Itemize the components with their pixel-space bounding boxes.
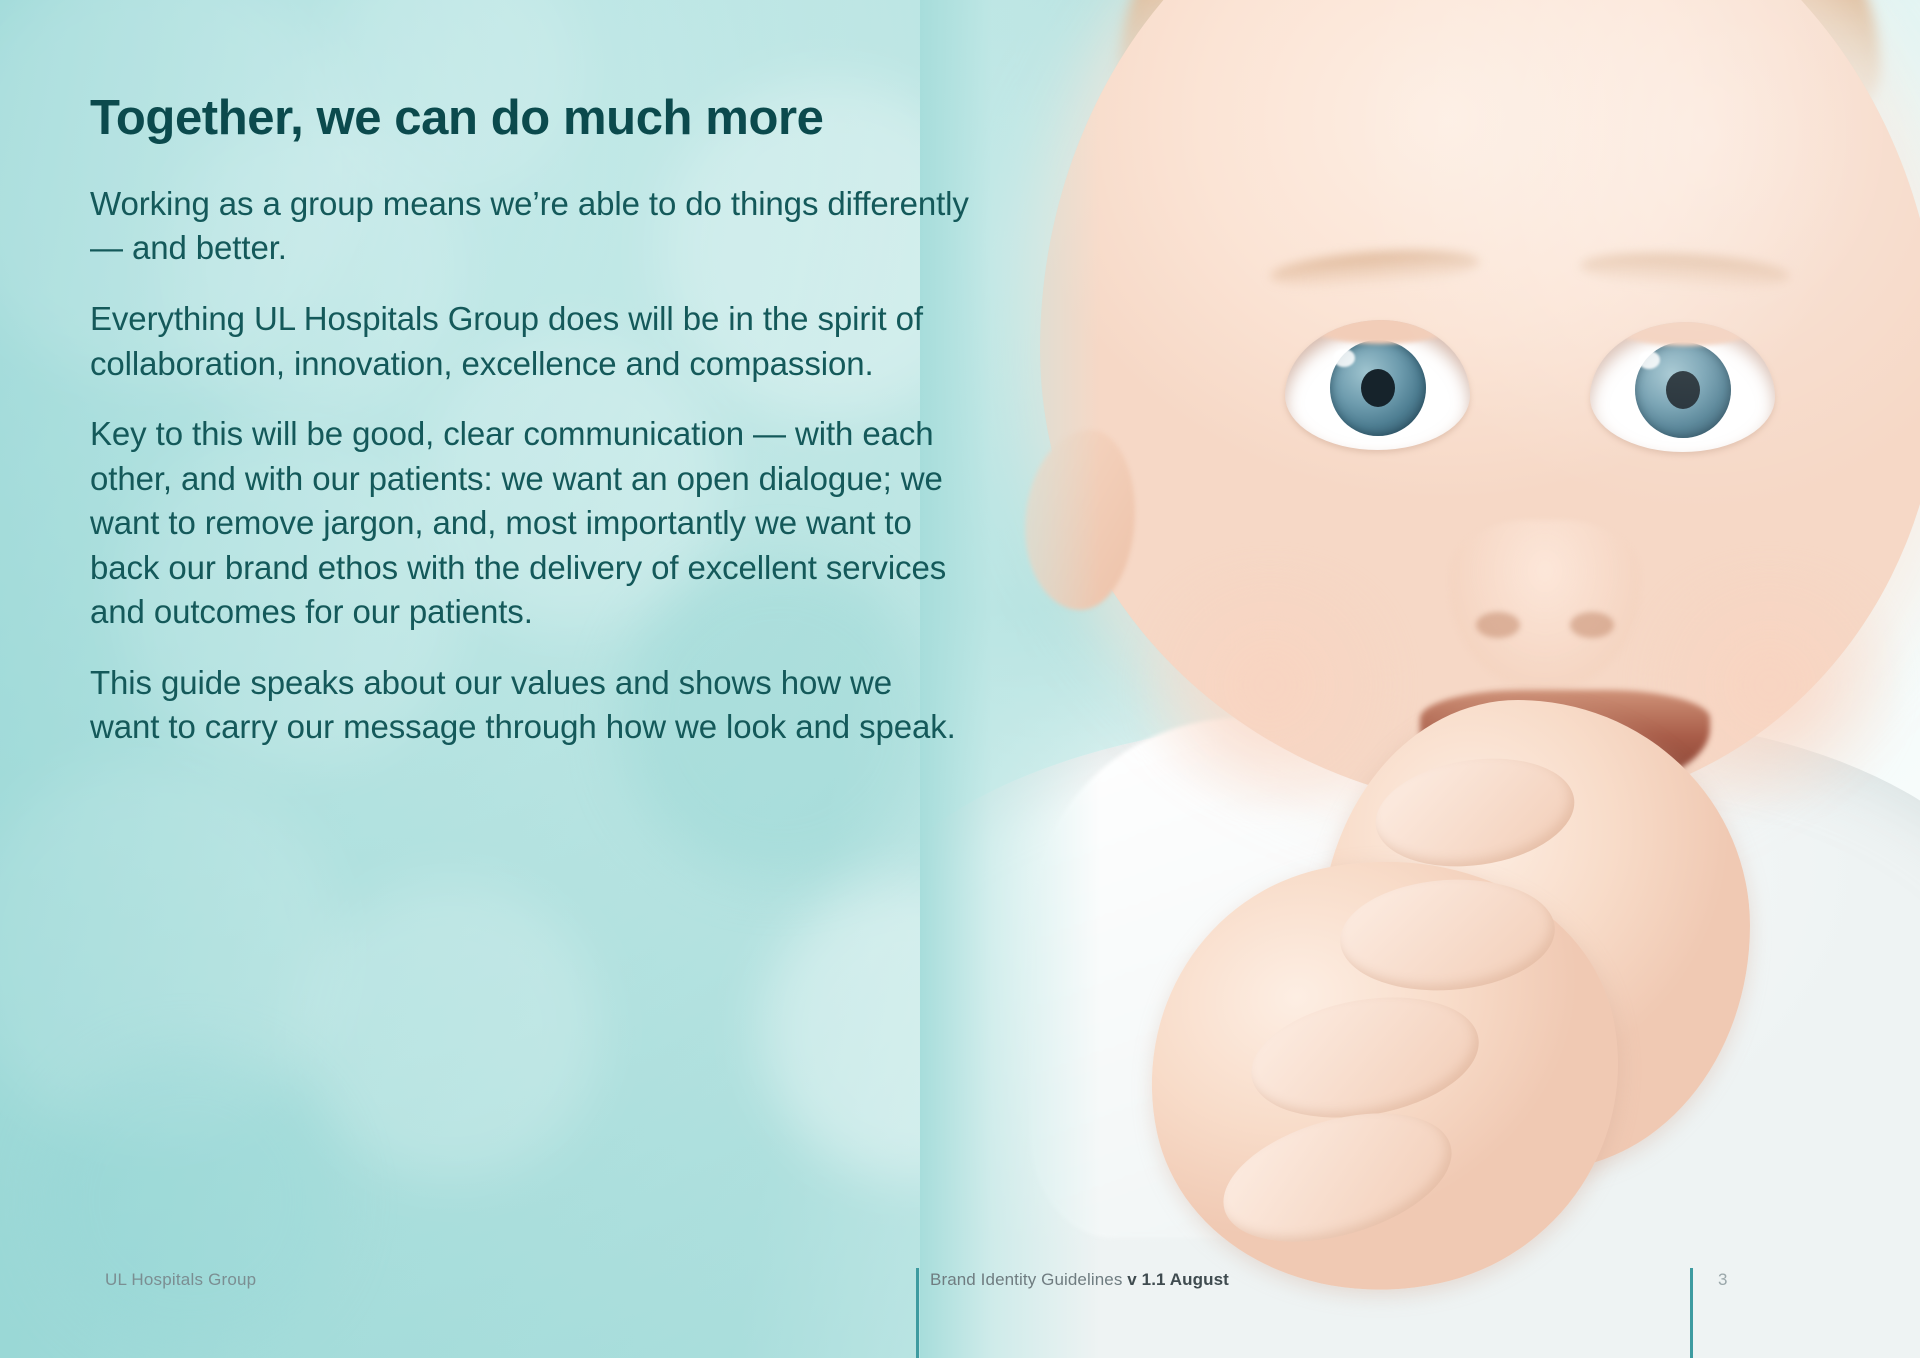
footer-version: v 1.1 August [1127,1270,1229,1289]
body-paragraph: Everything UL Hospitals Group does will … [90,297,970,386]
body-paragraph: This guide speaks about our values and s… [90,661,970,750]
footer-brand-name: UL Hospitals Group [105,1270,256,1290]
brand-guidelines-page: Together, we can do much more Working as… [0,0,1920,1358]
body-copy: Working as a group means we’re able to d… [90,182,970,750]
footer-document-label: Brand Identity Guidelines v 1.1 August [930,1270,1229,1290]
page-footer: UL Hospitals Group Brand Identity Guidel… [0,1238,1920,1358]
page-title: Together, we can do much more [90,92,970,146]
content-column: Together, we can do much more Working as… [90,0,970,750]
body-paragraph: Key to this will be good, clear communic… [90,412,970,635]
body-paragraph: Working as a group means we’re able to d… [90,182,970,271]
baby-photo [920,0,1920,1358]
footer-divider [916,1268,919,1358]
footer-document-title: Brand Identity Guidelines [930,1270,1122,1289]
page-number: 3 [1718,1270,1727,1290]
footer-divider [1690,1268,1693,1358]
